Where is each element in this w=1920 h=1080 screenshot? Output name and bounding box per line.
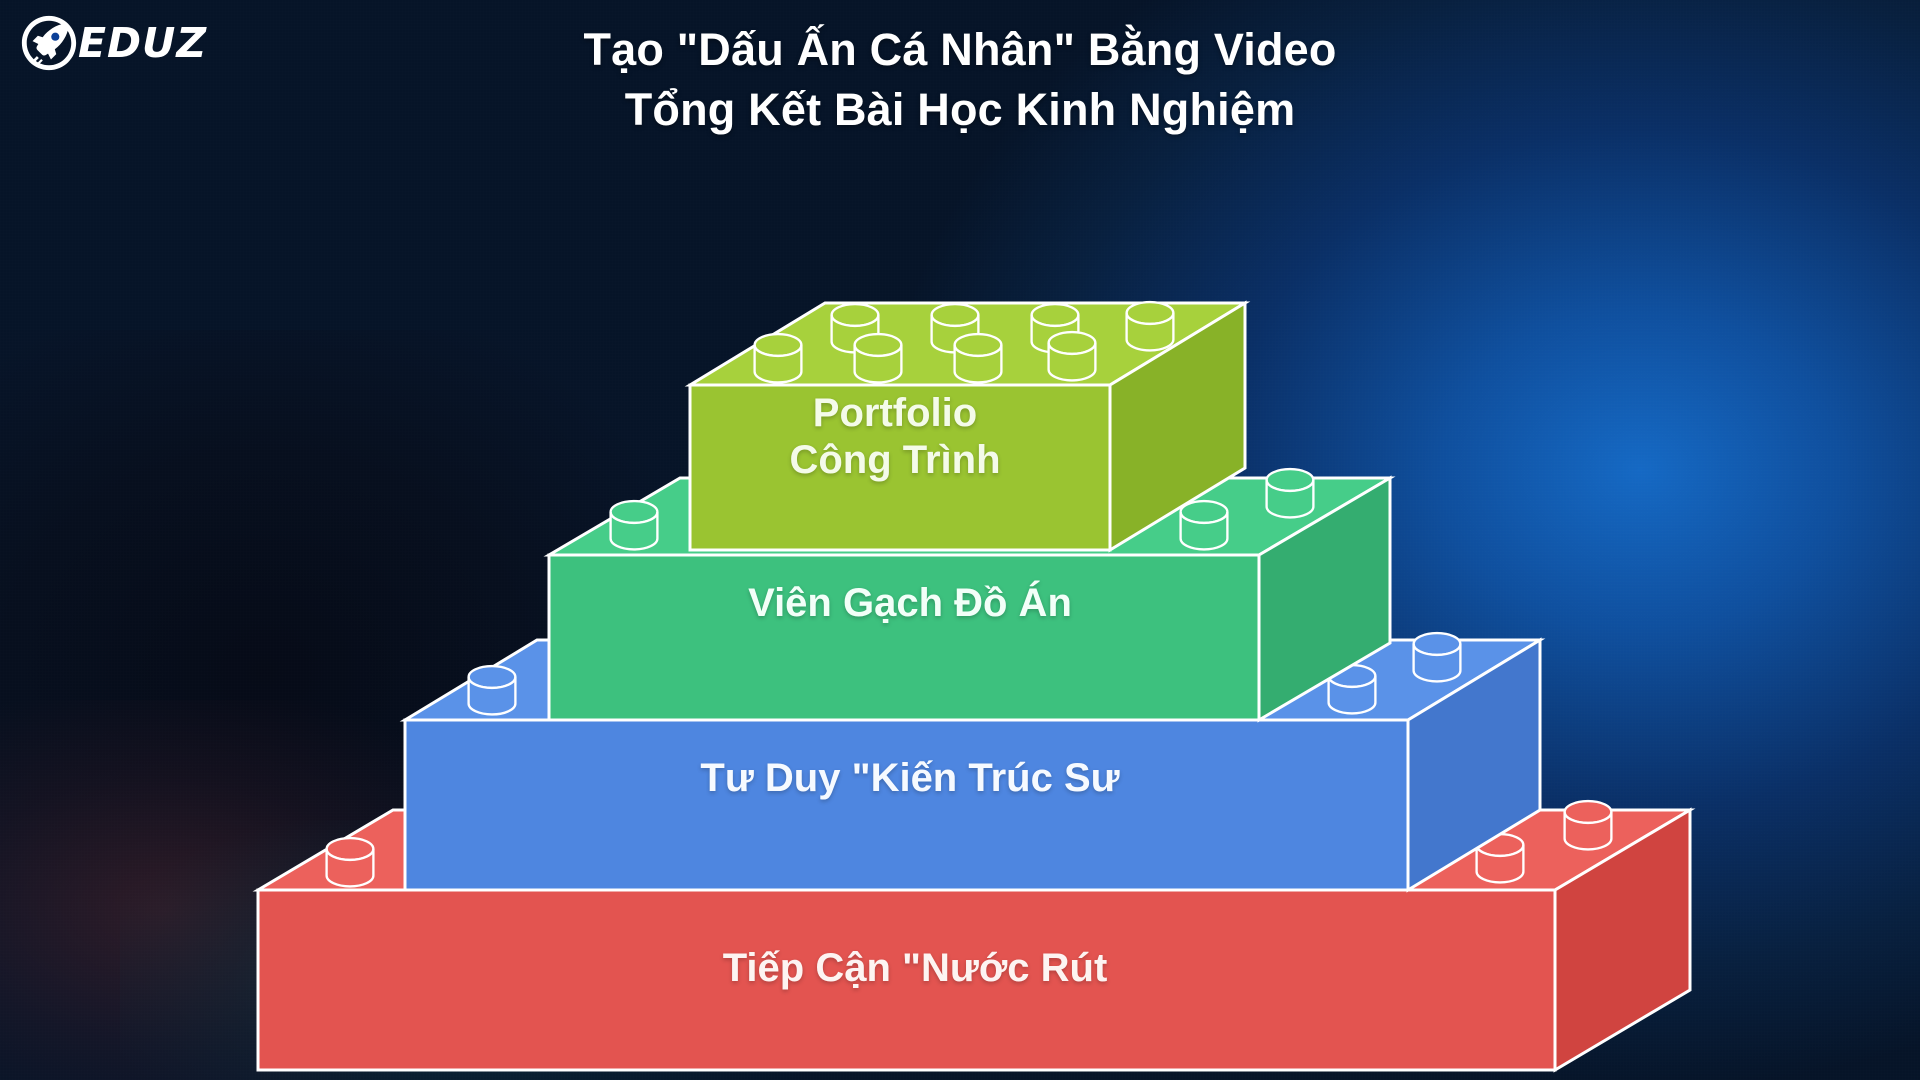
pyramid-illustration [0,0,1920,1080]
slide-canvas: EDUZ Tạo "Dấu Ấn Cá Nhân" Bằng Video Tổn… [0,0,1920,1080]
lego-brick-pyramid: Portfolio Công Trình Viên Gạch Đồ Án Tư … [0,0,1920,1080]
brick-level-top [690,302,1245,550]
